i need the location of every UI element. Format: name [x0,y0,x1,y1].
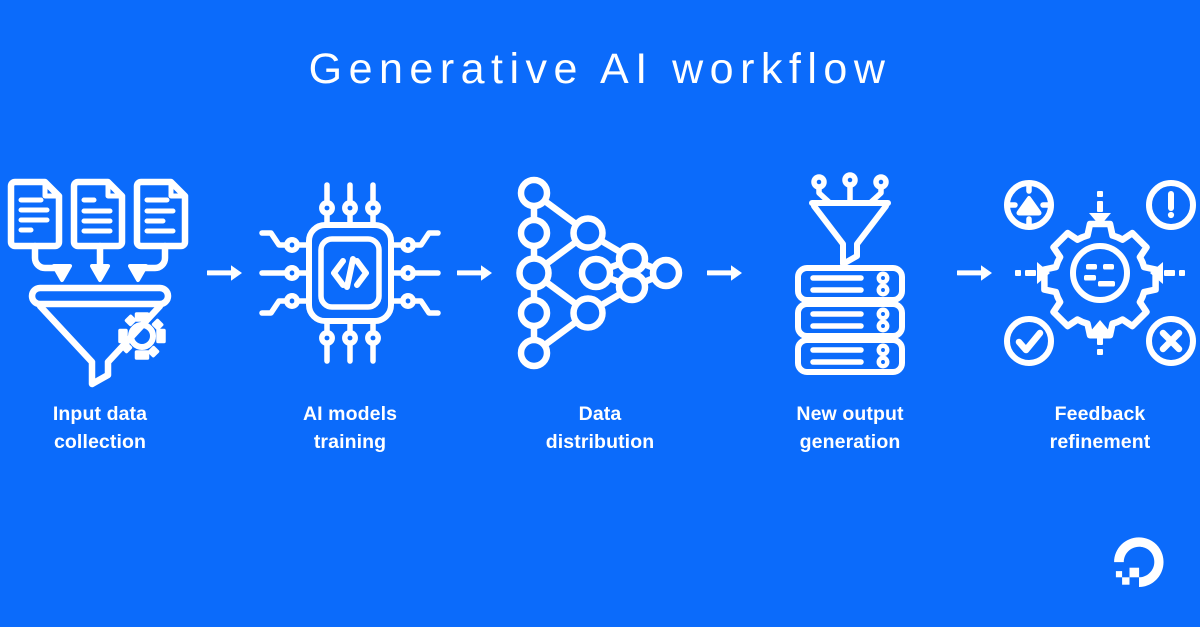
workflow-step-ai-models-training: AI models training [252,160,448,456]
arrow-right-icon [948,160,1002,385]
documents-funnel-gear-icon [5,160,195,385]
workflow-step-data-distribution: Data distribution [502,160,698,456]
funnel-server-stack-icon [785,160,915,385]
workflow-step-label: New output generation [796,401,903,456]
arrow-right-icon [698,160,752,385]
gear-feedback-icon [1007,160,1193,385]
arrow-right-icon [448,160,502,385]
workflow-step-label: AI models training [303,401,397,456]
workflow-step-input-data-collection: Input data collection [2,160,198,456]
page-title: Generative AI workflow [0,46,1200,93]
workflow-step-feedback-refinement: Feedback refinement [1002,160,1198,456]
workflow-step-label: Feedback refinement [1050,401,1151,456]
workflow-step-label: Input data collection [53,401,147,456]
cpu-chip-code-icon [260,160,440,385]
arrow-right-icon [198,160,252,385]
workflow-diagram: Input data collection [0,160,1200,456]
network-nodes-icon [516,160,684,385]
workflow-step-label: Data distribution [546,401,654,456]
workflow-step-new-output-generation: New output generation [752,160,948,456]
digitalocean-logo [1114,537,1164,587]
